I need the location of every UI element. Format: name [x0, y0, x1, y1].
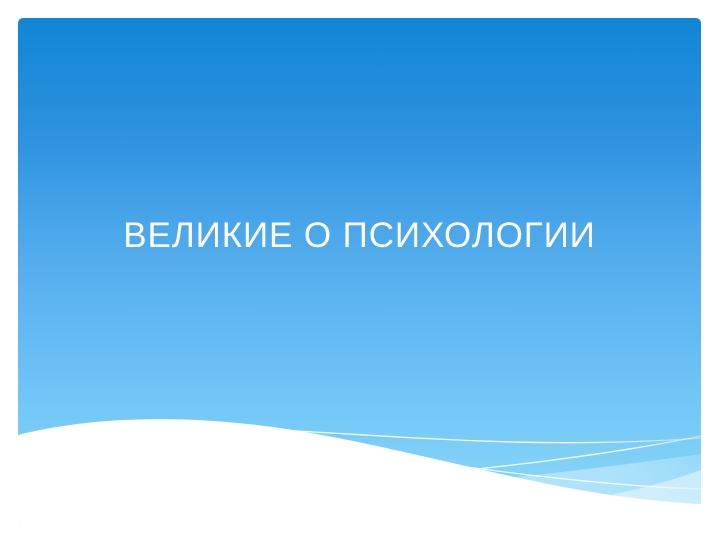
slide-root: ВЕЛИКИЕ О ПСИХОЛОГИИ	[0, 0, 720, 540]
slide-background-graphic	[18, 18, 701, 522]
slide-canvas: ВЕЛИКИЕ О ПСИХОЛОГИИ	[18, 18, 701, 522]
